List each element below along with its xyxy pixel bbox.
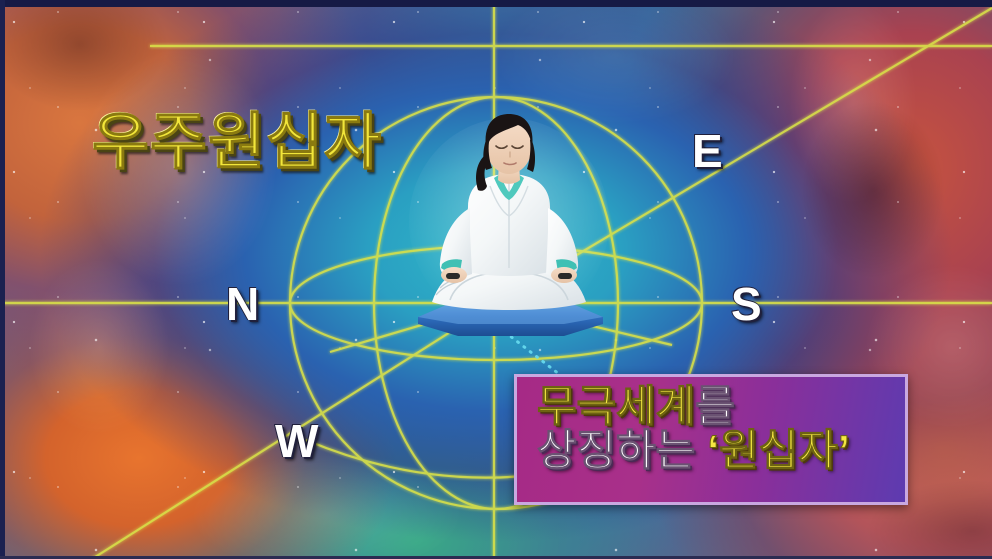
caption-banner: 무극세계를 상징하는 ‘원십자’ (514, 374, 908, 505)
compass-label-south: S (731, 281, 762, 327)
video-frame: 우주원십자 N E S W 무극세계를 상징하는 ‘원십자’ (0, 0, 992, 559)
caption-line-2-text: 상징하는 (537, 427, 707, 475)
main-title: 우주원십자 (92, 112, 382, 174)
compass-label-east: E (692, 128, 723, 174)
meditating-figure (398, 112, 620, 340)
caption-line-1-highlight: 무극세계 (537, 383, 695, 431)
caption-line-2-highlight: ‘원십자’ (707, 427, 850, 475)
left-letterbox-band (0, 0, 5, 559)
caption-line-1-particle: 를 (695, 383, 735, 431)
caption-line-1: 무극세계를 (537, 385, 905, 429)
top-letterbox-band (0, 0, 992, 7)
compass-label-north: N (226, 281, 259, 327)
upper-robe (464, 174, 554, 276)
meditator-illustration (398, 112, 620, 340)
caption-line-2: 상징하는 ‘원십자’ (537, 429, 905, 473)
compass-label-west: W (275, 418, 318, 464)
